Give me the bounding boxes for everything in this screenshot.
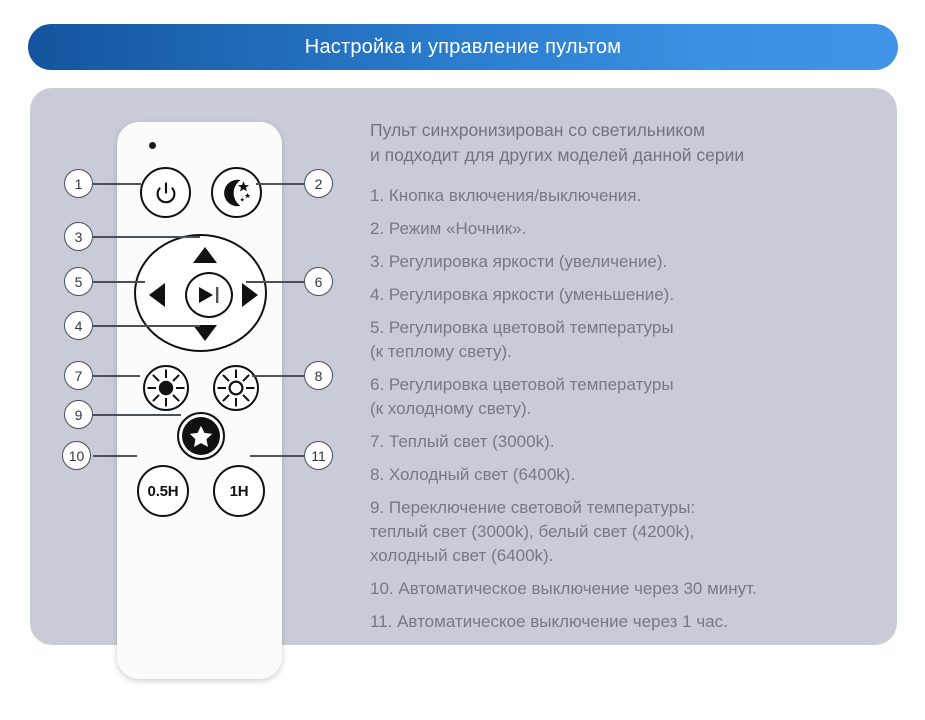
instruction-item-9-line-3: холодный свет (6400k).	[370, 546, 553, 565]
leader-line-5	[93, 281, 145, 283]
leader-line-10	[93, 455, 137, 457]
timer-30min-label: 0.5H	[148, 483, 179, 500]
timer-1hour-button[interactable]: 1H	[213, 465, 265, 517]
callout-1[interactable]: 1	[64, 169, 93, 198]
instruction-item-9-line-1: 9. Переключение световой температуры:	[370, 498, 695, 517]
instruction-item-7: 7. Теплый свет (3000k).	[370, 430, 840, 454]
cool-light-button[interactable]	[213, 365, 259, 411]
instruction-item-11: 11. Автоматическое выключение через 1 ча…	[370, 610, 840, 634]
instruction-item-5-line-2: (к теплому свету).	[370, 342, 512, 361]
leader-line-1	[93, 183, 141, 185]
temperature-warm-button[interactable]	[149, 283, 165, 307]
play-pause-icon	[194, 285, 224, 305]
remote-control-body: 0.5H 1H	[117, 122, 282, 679]
temperature-cool-button[interactable]	[242, 283, 258, 307]
instruction-item-1: 1. Кнопка включения/выключения.	[370, 184, 840, 208]
callout-9-label: 9	[75, 407, 83, 423]
sun-filled-icon	[146, 368, 186, 408]
moon-stars-icon	[220, 176, 254, 210]
intro-block: Пульт синхронизирован со светильником и …	[370, 118, 840, 168]
dpad-ring	[134, 234, 267, 352]
instruction-item-6-line-2: (к холодному свету).	[370, 399, 531, 418]
instruction-item-6: 6. Регулировка цветовой температуры (к х…	[370, 373, 840, 421]
callout-6-label: 6	[315, 274, 323, 290]
page-header: Настройка и управление пультом	[28, 24, 898, 70]
callout-2[interactable]: 2	[304, 169, 333, 198]
callout-7[interactable]: 7	[64, 361, 93, 390]
callout-10-label: 10	[69, 448, 85, 464]
brightness-down-button[interactable]	[193, 325, 217, 341]
callout-1-label: 1	[75, 176, 83, 192]
leader-line-7	[93, 375, 140, 377]
callout-8-label: 8	[315, 368, 323, 384]
star-icon	[189, 425, 213, 448]
callout-2-label: 2	[315, 176, 323, 192]
leader-line-8	[252, 375, 304, 377]
instruction-item-4: 4. Регулировка яркости (уменьшение).	[370, 283, 840, 307]
callout-6[interactable]: 6	[304, 267, 333, 296]
instruction-item-6-line-1: 6. Регулировка цветовой температуры	[370, 375, 674, 394]
callout-7-label: 7	[75, 368, 83, 384]
leader-line-2	[256, 183, 304, 185]
intro-line-1: Пульт синхронизирован со светильником	[370, 120, 705, 140]
instruction-item-9: 9. Переключение световой температуры: те…	[370, 496, 840, 568]
callout-3-label: 3	[75, 229, 83, 245]
instructions-column: Пульт синхронизирован со светильником и …	[370, 118, 840, 643]
star-disc	[182, 417, 220, 455]
power-button[interactable]	[140, 167, 191, 218]
leader-line-11	[250, 455, 304, 457]
timer-30min-button[interactable]: 0.5H	[137, 465, 189, 517]
instruction-item-10: 10. Автоматическое выключение через 30 м…	[370, 577, 840, 601]
intro-line-2: и подходит для других моделей данной сер…	[370, 145, 744, 165]
instruction-item-5: 5. Регулировка цветовой температуры (к т…	[370, 316, 840, 364]
callout-8[interactable]: 8	[304, 361, 333, 390]
timer-1hour-label: 1H	[230, 483, 249, 500]
callout-3[interactable]: 3	[64, 222, 93, 251]
callout-4[interactable]: 4	[64, 311, 93, 340]
leader-line-6	[246, 281, 304, 283]
instruction-item-5-line-1: 5. Регулировка цветовой температуры	[370, 318, 674, 337]
instruction-item-2: 2. Режим «Ночник».	[370, 217, 840, 241]
leader-line-4	[93, 325, 200, 327]
night-mode-button[interactable]	[211, 167, 262, 218]
leader-line-9	[93, 414, 181, 416]
warm-light-button[interactable]	[143, 365, 189, 411]
callout-10[interactable]: 10	[62, 441, 91, 470]
instruction-item-3: 3. Регулировка яркости (увеличение).	[370, 250, 840, 274]
page-title: Настройка и управление пультом	[305, 36, 621, 59]
callout-5-label: 5	[75, 274, 83, 290]
callout-4-label: 4	[75, 318, 83, 334]
power-icon	[154, 181, 178, 205]
callout-5[interactable]: 5	[64, 267, 93, 296]
callout-11-label: 11	[311, 448, 326, 464]
instruction-item-8: 8. Холодный свет (6400k).	[370, 463, 840, 487]
play-pause-button[interactable]	[185, 272, 233, 318]
callout-9[interactable]: 9	[64, 400, 93, 429]
led-indicator-icon	[149, 142, 156, 149]
color-temperature-switch-button[interactable]	[177, 412, 225, 460]
instruction-item-9-line-2: теплый свет (3000k), белый свет (4200k),	[370, 522, 694, 541]
callout-11[interactable]: 11	[304, 441, 333, 470]
sun-hollow-icon	[216, 368, 256, 408]
leader-line-3	[93, 236, 200, 238]
brightness-up-button[interactable]	[193, 247, 217, 263]
